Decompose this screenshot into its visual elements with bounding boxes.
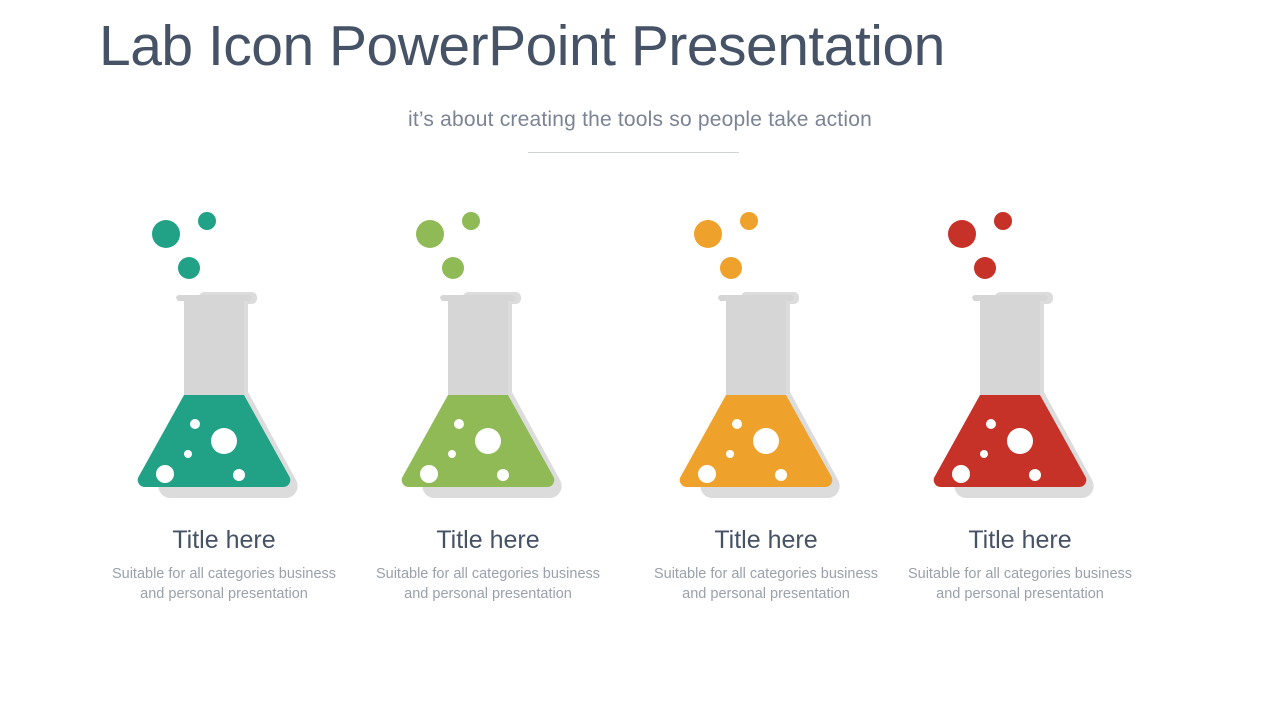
flask-bubbles-group bbox=[152, 212, 216, 279]
liquid-bubble-1 bbox=[732, 419, 742, 429]
card-description: Suitable for all categories business and… bbox=[362, 564, 614, 604]
flask-neck-group bbox=[440, 295, 516, 398]
bubble-medium-icon bbox=[974, 257, 996, 279]
lab-flask-icon bbox=[388, 196, 588, 506]
bubble-small-icon bbox=[462, 212, 480, 230]
flask-neck-group bbox=[718, 295, 794, 398]
page-subtitle: it’s about creating the tools so people … bbox=[0, 104, 1280, 136]
liquid-bubble-4 bbox=[698, 465, 716, 483]
liquid-bubble-1 bbox=[986, 419, 996, 429]
liquid-bubble-2 bbox=[1007, 428, 1033, 454]
liquid-bubble-3 bbox=[980, 450, 988, 458]
liquid-bubble-5 bbox=[775, 469, 787, 481]
liquid-bubble-3 bbox=[448, 450, 456, 458]
bubble-small-icon bbox=[994, 212, 1012, 230]
bubble-medium-icon bbox=[442, 257, 464, 279]
card-title: Title here bbox=[880, 524, 1160, 556]
flask-card-green[interactable]: Title here Suitable for all categories b… bbox=[348, 196, 628, 656]
liquid-bubble-5 bbox=[497, 469, 509, 481]
card-description: Suitable for all categories business and… bbox=[98, 564, 350, 604]
liquid-bubble-4 bbox=[420, 465, 438, 483]
lab-flask-icon bbox=[124, 196, 324, 506]
liquid-bubble-1 bbox=[454, 419, 464, 429]
bubble-small-icon bbox=[740, 212, 758, 230]
card-title: Title here bbox=[626, 524, 906, 556]
bubble-medium-icon bbox=[720, 257, 742, 279]
liquid-bubble-4 bbox=[156, 465, 174, 483]
liquid-bubble-3 bbox=[726, 450, 734, 458]
liquid-bubble-2 bbox=[475, 428, 501, 454]
lab-flask-icon bbox=[920, 196, 1120, 506]
card-title: Title here bbox=[84, 524, 364, 556]
liquid-bubble-1 bbox=[190, 419, 200, 429]
bubble-large-icon bbox=[152, 220, 180, 248]
page-title: Lab Icon PowerPoint Presentation bbox=[99, 12, 945, 80]
bubble-large-icon bbox=[694, 220, 722, 248]
bubble-small-icon bbox=[198, 212, 216, 230]
flask-bubbles-group bbox=[694, 212, 758, 279]
liquid-bubble-3 bbox=[184, 450, 192, 458]
lab-flask-icon bbox=[666, 196, 866, 506]
liquid-bubble-2 bbox=[753, 428, 779, 454]
flask-card-teal[interactable]: Title here Suitable for all categories b… bbox=[84, 196, 364, 656]
flask-neck-group bbox=[176, 295, 252, 398]
bubble-large-icon bbox=[416, 220, 444, 248]
presentation-slide: Lab Icon PowerPoint Presentation it’s ab… bbox=[0, 0, 1280, 720]
liquid-bubble-4 bbox=[952, 465, 970, 483]
flask-neck-group bbox=[972, 295, 1048, 398]
flask-bubbles-group bbox=[416, 212, 480, 279]
liquid-bubble-5 bbox=[233, 469, 245, 481]
flask-card-orange[interactable]: Title here Suitable for all categories b… bbox=[626, 196, 906, 656]
bubble-medium-icon bbox=[178, 257, 200, 279]
card-title: Title here bbox=[348, 524, 628, 556]
card-description: Suitable for all categories business and… bbox=[894, 564, 1146, 604]
card-description: Suitable for all categories business and… bbox=[640, 564, 892, 604]
title-divider bbox=[528, 152, 739, 153]
flask-columns: Title here Suitable for all categories b… bbox=[0, 196, 1280, 656]
liquid-bubble-5 bbox=[1029, 469, 1041, 481]
bubble-large-icon bbox=[948, 220, 976, 248]
flask-bubbles-group bbox=[948, 212, 1012, 279]
flask-card-red[interactable]: Title here Suitable for all categories b… bbox=[880, 196, 1160, 656]
liquid-bubble-2 bbox=[211, 428, 237, 454]
